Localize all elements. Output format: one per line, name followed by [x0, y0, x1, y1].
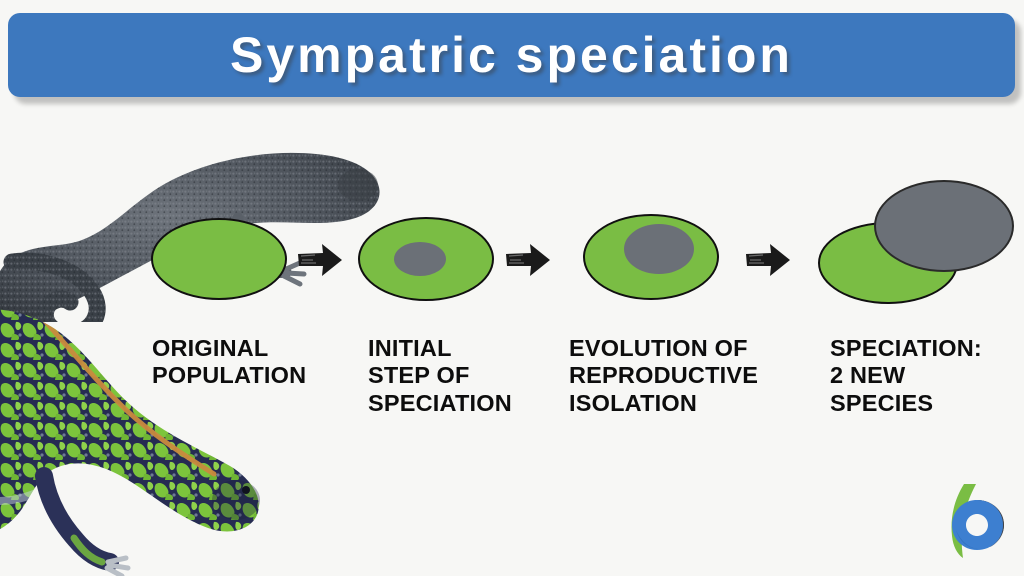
biology-online-logo[interactable]	[944, 478, 1010, 560]
stage-2-subgroup-ellipse	[394, 242, 446, 276]
page-title: Sympatric speciation	[230, 30, 793, 80]
stage-2-caption: INITIAL STEP OF SPECIATION	[368, 335, 568, 417]
slide-canvas: Sympatric speciation	[0, 0, 1024, 576]
flow-arrow-1	[297, 243, 343, 277]
flow-arrow-3	[745, 243, 791, 277]
stage-2-group	[358, 217, 494, 301]
stage-1-group	[151, 218, 287, 300]
stage-1-caption: ORIGINAL POPULATION	[152, 335, 362, 390]
stage-4-caption: SPECIATION: 2 NEW SPECIES	[830, 335, 1020, 417]
flow-arrow-2	[505, 243, 551, 277]
stage-3-subgroup-ellipse	[624, 224, 694, 274]
stage-1-population-ellipse	[151, 218, 287, 300]
stage-3-group	[583, 214, 719, 300]
stage-4-species-two-ellipse	[874, 180, 1014, 272]
stage-3-caption: EVOLUTION OF REPRODUCTIVE ISOLATION	[569, 335, 819, 417]
title-banner: Sympatric speciation	[8, 13, 1015, 97]
stage-4-group	[818, 180, 1014, 304]
